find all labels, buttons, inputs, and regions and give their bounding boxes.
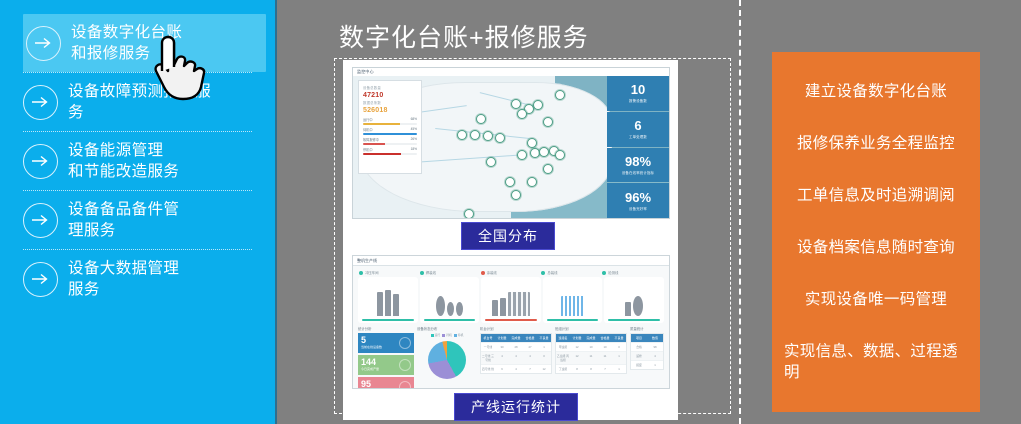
table-header-cell: 项目 (631, 334, 647, 342)
table-cell: 12 (537, 365, 551, 373)
production-line-dashboard-screenshot: 整机生产线 冲压车间 焊装线 涂装线 总装线 检测线 (352, 255, 670, 389)
bar-percent: 26% (411, 137, 417, 142)
table-header-cell: 合格量 (523, 334, 537, 342)
sidebar-item-label: 设备故障预测报警服 务 (62, 81, 211, 123)
arrow-right-circle-icon (18, 80, 62, 124)
table-header-row: 机台号 计划量 完成量 合格量 不良量 (481, 334, 551, 342)
table-title: 机台计划 (480, 326, 552, 331)
map-header-title: 监控中心 (357, 69, 374, 75)
vertical-dashed-divider (739, 0, 741, 424)
table-column-quality: 质量统计 项目 数值 合格 98 返修 4 (630, 326, 664, 389)
arrow-right-icon (30, 154, 50, 168)
sidebar-menu: 设备数字化台账 和报修服务 设备故障预测报警服 务 (0, 14, 275, 308)
table-cell: 12 (570, 343, 584, 351)
gear-icon (399, 337, 411, 349)
pie-legend-label: 待机 (446, 333, 452, 337)
table-cell: 27 (523, 343, 537, 351)
legend-item: 冲压车间 (359, 270, 420, 275)
table-header-cell: 不良量 (537, 334, 551, 342)
bar-label: 运行中 (363, 117, 373, 122)
legend-item: 检测线 (602, 270, 663, 275)
legend-item: 涂装线 (481, 270, 542, 275)
legend-dot-icon (481, 271, 485, 275)
benefit-item-transparency: 实现信息、数据、过程透明 (784, 341, 968, 383)
line-header-bar: 整机生产线 (353, 256, 669, 266)
table-cell: 8 (584, 365, 598, 373)
table-cell: 0 (537, 352, 551, 364)
sidebar-item-label: 设备能源管理 和节能改造服务 (62, 140, 179, 182)
bar-label: 停机中 (363, 147, 373, 152)
gear-icon (399, 359, 411, 371)
center-content: 数字化台账+报修服务 监控中心 (277, 0, 742, 424)
line-segment-painting (481, 277, 541, 323)
table-cell: 报废 (631, 361, 647, 369)
table-cell: 四号线 线 (481, 365, 495, 373)
table-cell: 6 (495, 365, 509, 373)
table-cell: 1 (647, 361, 663, 369)
info-value-total-devices: 47210 (363, 91, 417, 100)
table-header-cell: 不良量 (612, 334, 626, 342)
table-row: 丁班组 8 8 7 1 (556, 364, 626, 373)
sidebar-item-label: 设备大数据管理 服务 (62, 258, 179, 300)
table-cell: 4 (523, 352, 537, 364)
table-column-machine: 机台计划 机台号 计划量 完成量 合格量 不良量 一号线 30 28 (480, 326, 552, 389)
legend-dot-icon (359, 271, 363, 275)
table-cell: 30 (495, 343, 509, 351)
line-legend: 冲压车间 焊装线 涂装线 总装线 检测线 (353, 266, 669, 275)
table-cell: 7 (523, 365, 537, 373)
line-segment-assembly (543, 277, 603, 323)
table-cell: 11 (584, 352, 598, 364)
map-pin[interactable] (486, 157, 496, 167)
line-header-title: 整机生产线 (357, 258, 377, 264)
bar-percent: 68% (411, 117, 417, 122)
arrow-right-icon (30, 95, 50, 109)
stat-caption: 设备完好率 (629, 206, 647, 211)
table-cell: 98 (647, 343, 663, 351)
table-cell: 11 (598, 352, 612, 364)
table-cell: 丁班组 (556, 365, 570, 373)
table-cell: 4 (509, 365, 523, 373)
table-cell: 一号线 (481, 343, 495, 351)
table-cell: 1 (612, 365, 626, 373)
table-row: 合格 98 (631, 342, 663, 351)
production-line-diagram (358, 277, 664, 323)
table-header-cell: 班组名 (556, 334, 570, 342)
stat-caption: 设备在线率统计指标 (622, 170, 654, 175)
map-pin[interactable] (464, 209, 474, 219)
pie-legend-label: 运行 (435, 333, 441, 337)
table-header-cell: 合格量 (598, 334, 612, 342)
legend-dot-icon (602, 271, 606, 275)
arrow-right-icon (33, 36, 53, 50)
page-title: 数字化台账+报修服务 (339, 18, 589, 54)
table-cell: 7 (598, 365, 612, 373)
table-cell: 返修 (631, 352, 647, 360)
table-cell: 1 (612, 352, 626, 364)
table-cell: 10 (584, 343, 598, 351)
sidebar-item-big-data[interactable]: 设备大数据管理 服务 (0, 250, 275, 308)
arrow-right-icon (30, 272, 50, 286)
table-row: 四号线 线 6 4 7 12 (481, 364, 551, 373)
table-header-cell: 完成量 (509, 334, 523, 342)
pie-legend-label: 停机 (458, 333, 464, 337)
pie-chart-column: 设备状态分布 运行 待机 停机 (417, 326, 477, 389)
bar-percent: 18% (411, 147, 417, 152)
map-pin[interactable] (511, 99, 521, 109)
table-header-cell: 数值 (647, 334, 663, 342)
map-pin[interactable] (470, 130, 480, 140)
info-bar-row: 运行中68% (363, 117, 417, 125)
arrow-right-circle-icon (18, 139, 62, 183)
benefit-item-workorder-trace: 工单信息及时追溯调阅 (784, 185, 968, 206)
stat-caption: 工单处理数 (629, 134, 647, 139)
gear-icon (399, 381, 411, 389)
table-header-cell: 计划量 (570, 334, 584, 342)
pie-legend-swatch (442, 334, 445, 337)
bar-label: 待机中 (363, 127, 373, 132)
sidebar-item-fault-prediction[interactable]: 设备故障预测报警服 务 (0, 73, 275, 131)
table-header-cell: 完成量 (584, 334, 598, 342)
pie-legend-swatch (431, 334, 434, 337)
slide-root: 设备数字化台账 和报修服务 设备故障预测报警服 务 (0, 0, 1021, 424)
table-cell: 乙班组 丙班组 (556, 352, 570, 364)
sidebar-item-digital-ledger[interactable]: 设备数字化台账 和报修服务 (23, 14, 266, 72)
map-pin[interactable] (511, 190, 521, 200)
kpi-card-output: 144 今日完成产量 (358, 355, 414, 375)
table-cell: 0 (612, 343, 626, 351)
device-status-pie-chart (428, 341, 466, 379)
arrow-right-circle-icon (18, 198, 62, 242)
table-title: 班组计划 (555, 326, 627, 331)
line-segment-welding (420, 277, 480, 323)
legend-label: 检测线 (608, 270, 618, 275)
table-column-team: 班组计划 班组名 计划量 完成量 合格量 不良量 甲班组 12 10 (555, 326, 627, 389)
stat-value: 10 (631, 83, 645, 96)
info-value-total-records: 526018 (363, 106, 417, 115)
map-dashboard-screenshot: 监控中心 (352, 67, 670, 219)
bar-label: 故障报修中 (363, 137, 379, 142)
benefits-panel-wrap: 建立设备数字化台账 报修保养业务全程监控 工单信息及时追溯调阅 设备档案信息随时… (742, 0, 1021, 424)
table-cell: 4 (509, 352, 523, 364)
legend-item: 总装线 (541, 270, 602, 275)
stat-caption: 报警设备数 (629, 98, 647, 103)
table-cell: 8 (570, 365, 584, 373)
stat-value: 6 (634, 119, 641, 132)
table-cell: 28 (509, 343, 523, 351)
table-row: 甲班组 12 10 10 0 (556, 342, 626, 351)
stat-intact-rate: 96% 设备完好率 (607, 183, 669, 218)
table-header-cell: 机台号 (481, 334, 495, 342)
sidebar-item-label: 设备备品备件管 理服务 (62, 199, 179, 241)
pie-legend-swatch (454, 334, 457, 337)
line-segment-stamping (358, 277, 418, 323)
table-cell: 合格 (631, 343, 647, 351)
stat-work-orders: 6 工单处理数 (607, 112, 669, 147)
data-table: 机台号 计划量 完成量 合格量 不良量 一号线 30 28 27 1 (480, 333, 552, 374)
stat-value: 96% (625, 191, 651, 204)
legend-label: 冲压车间 (365, 270, 379, 275)
table-cell: 4 (647, 352, 663, 360)
sidebar-item-label: 设备数字化台账 和报修服务 (65, 22, 182, 64)
table-header-cell: 计划量 (495, 334, 509, 342)
legend-dot-icon (420, 271, 424, 275)
line-segment-inspection (604, 277, 664, 323)
arrow-right-icon (30, 213, 50, 227)
map-caption-tag: 全国分布 (461, 222, 555, 250)
kpi-column: 统计分析 5 当前在线设备数 144 今日完成产量 95 设备综合效率% (358, 326, 414, 389)
data-table: 班组名 计划量 完成量 合格量 不良量 甲班组 12 10 10 0 (555, 333, 627, 374)
map-pin[interactable] (543, 164, 553, 174)
line-caption-tag: 产线运行统计 (454, 393, 578, 421)
service-sidebar: 设备数字化台账 和报修服务 设备故障预测报警服 务 (0, 0, 277, 424)
table-cell: 二号线 三号线 (481, 352, 495, 364)
table-row: 二号线 三号线 4 4 4 0 (481, 351, 551, 364)
map-info-card: 设备总数量 47210 数据总条数 526018 运行中68% 待机中45% 故… (358, 80, 422, 174)
map-pin[interactable] (517, 109, 527, 119)
line-kpi-row: 统计分析 5 当前在线设备数 144 今日完成产量 95 设备综合效率% (353, 323, 669, 389)
benefit-item-archive-query: 设备档案信息随时查询 (784, 237, 968, 258)
legend-label: 总装线 (547, 270, 557, 275)
info-bar-row: 故障报修中26% (363, 137, 417, 145)
info-bar-row: 停机中18% (363, 147, 417, 155)
arrow-right-circle-icon (18, 257, 62, 301)
pie-chart-label: 设备状态分布 (417, 326, 477, 331)
benefits-panel: 建立设备数字化台账 报修保养业务全程监控 工单信息及时追溯调阅 设备档案信息随时… (772, 52, 980, 412)
sidebar-item-spare-parts[interactable]: 设备备品备件管 理服务 (0, 191, 275, 249)
map-pin[interactable] (483, 131, 493, 141)
table-title: 质量统计 (630, 326, 664, 331)
benefit-item-unique-code: 实现设备唯一码管理 (784, 289, 968, 310)
table-row: 一号线 30 28 27 1 (481, 342, 551, 351)
table-row: 乙班组 丙班组 12 11 11 1 (556, 351, 626, 364)
kpi-column-label: 统计分析 (358, 326, 414, 331)
map-pin[interactable] (527, 177, 537, 187)
legend-label: 焊装线 (426, 270, 436, 275)
info-bar-row: 待机中45% (363, 127, 417, 135)
stat-online-rate: 98% 设备在线率统计指标 (607, 148, 669, 183)
table-row: 报废 1 (631, 360, 663, 369)
map-pin[interactable] (543, 117, 553, 127)
kpi-card-oee: 95 设备综合效率% (358, 377, 414, 389)
legend-dot-icon (541, 271, 545, 275)
table-cell: 1 (537, 343, 551, 351)
legend-item: 焊装线 (420, 270, 481, 275)
benefit-item-ledger: 建立设备数字化台账 (784, 81, 968, 102)
kpi-card-online-devices: 5 当前在线设备数 (358, 333, 414, 353)
map-pin[interactable] (505, 177, 515, 187)
sidebar-item-energy-management[interactable]: 设备能源管理 和节能改造服务 (0, 132, 275, 190)
table-header-row: 项目 数值 (631, 334, 663, 342)
table-header-row: 班组名 计划量 完成量 合格量 不良量 (556, 334, 626, 342)
legend-label: 涂装线 (487, 270, 497, 275)
table-cell: 4 (495, 352, 509, 364)
arrow-right-circle-icon (21, 21, 65, 65)
pie-legend: 运行 待机 停机 (417, 333, 477, 337)
table-cell: 甲班组 (556, 343, 570, 351)
map-pin[interactable] (495, 133, 505, 143)
benefit-item-repair-monitoring: 报修保养业务全程监控 (784, 133, 968, 154)
map-stats-column: 10 报警设备数 6 工单处理数 98% 设备在线率统计指标 96% 设备完好率 (607, 76, 669, 218)
table-cell: 12 (570, 352, 584, 364)
stat-value: 98% (625, 155, 651, 168)
table-row: 返修 4 (631, 351, 663, 360)
bar-percent: 45% (411, 127, 417, 132)
stat-alarm-devices: 10 报警设备数 (607, 76, 669, 111)
table-cell: 10 (598, 343, 612, 351)
data-table: 项目 数值 合格 98 返修 4 报废 1 (630, 333, 664, 370)
